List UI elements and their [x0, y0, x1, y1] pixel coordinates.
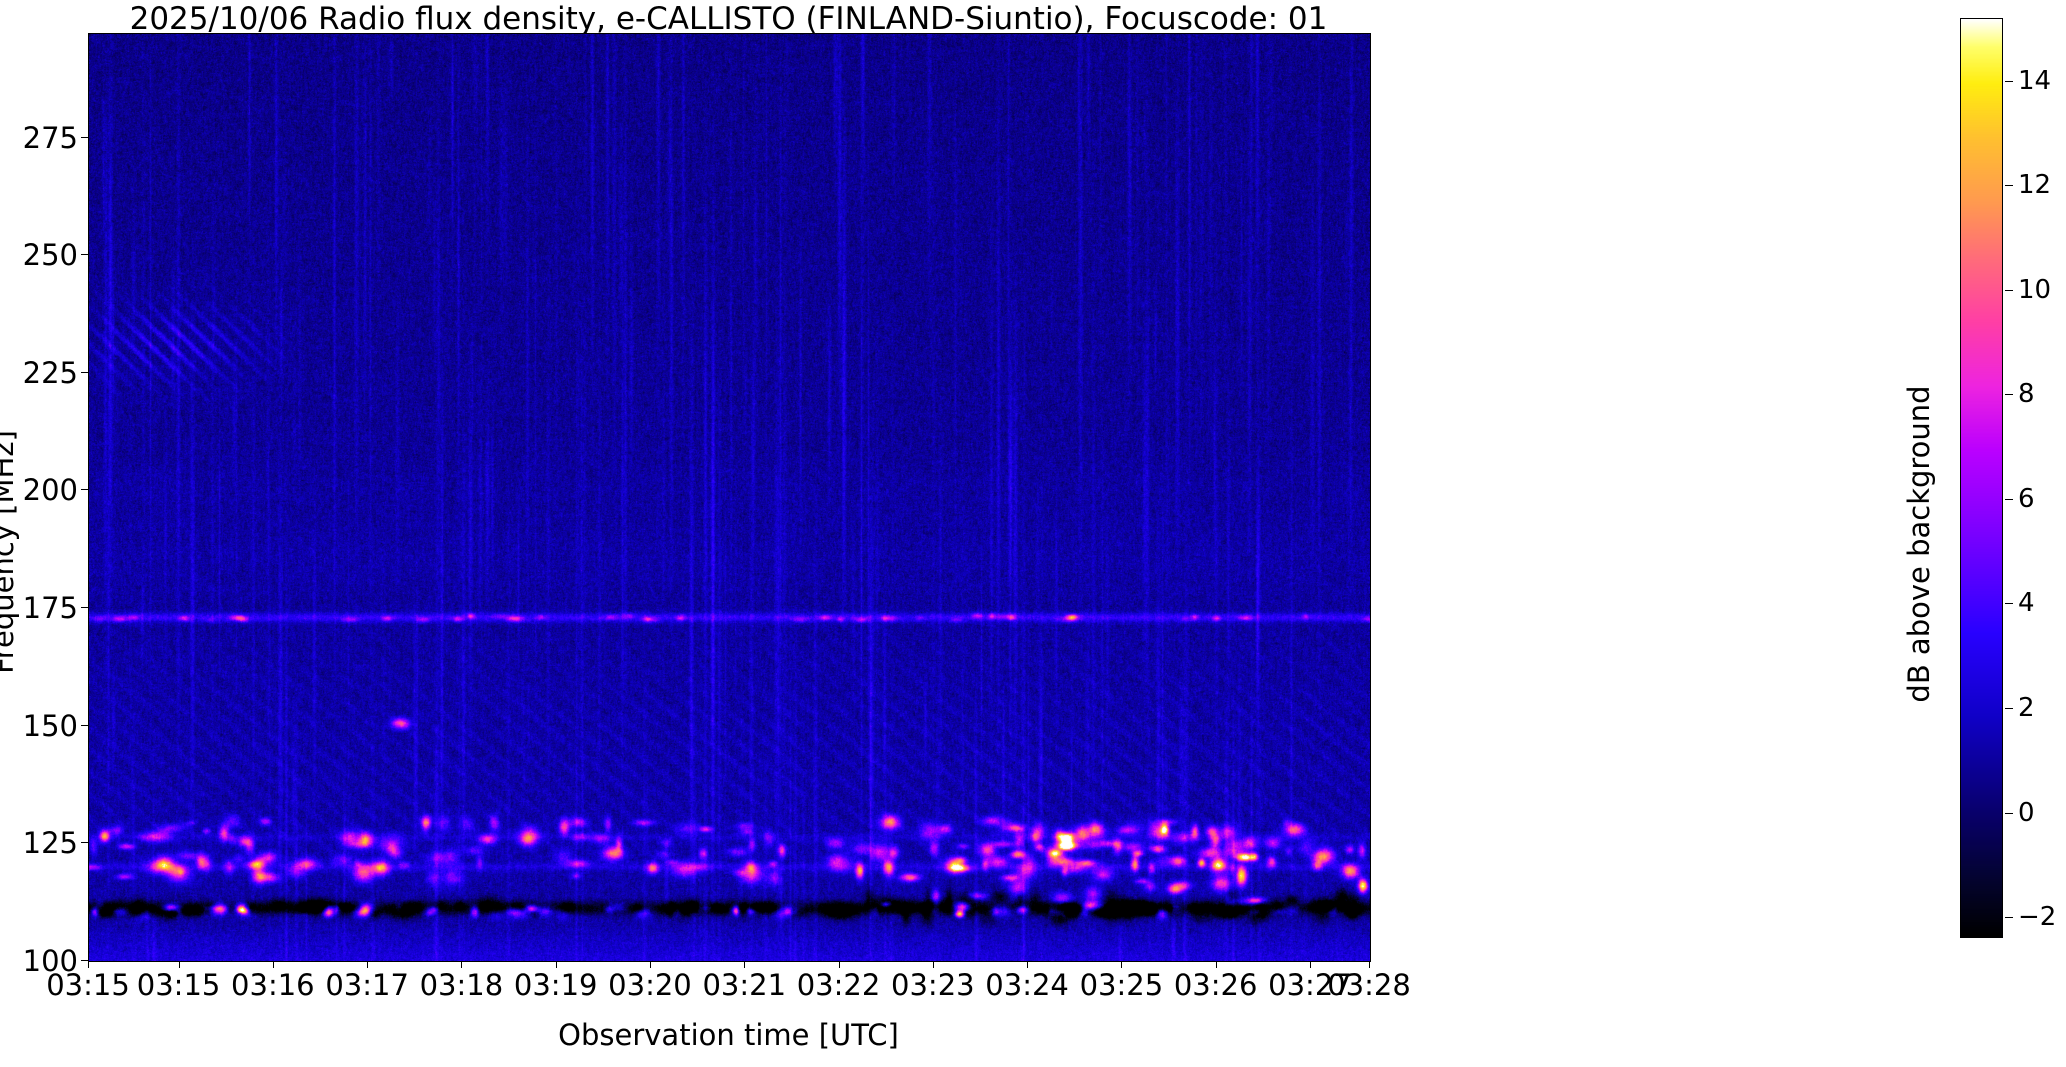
page-title: 2025/10/06 Radio flux density, e-CALLIST… [88, 2, 1369, 36]
y-axis-tick-label: 125 [8, 826, 78, 860]
x-axis-tick-mark [744, 961, 745, 968]
x-axis-tick-label: 03:28 [1289, 968, 1449, 1002]
y-axis-label: Frequency [MHz] [0, 392, 20, 712]
colorbar-tick-label: 10 [2018, 275, 2051, 305]
x-axis-tick-mark [1121, 961, 1122, 968]
x-axis-tick-mark [367, 961, 368, 968]
colorbar-tick-label: 2 [2018, 693, 2035, 723]
y-axis-tick-label: 150 [8, 709, 78, 743]
colorbar-tick-label: 4 [2018, 588, 2035, 618]
colorbar-tick-label: 14 [2018, 66, 2051, 96]
colorbar-tick-label: 0 [2018, 798, 2035, 828]
x-axis-tick-mark [1027, 961, 1028, 968]
x-axis-tick-labels: 03:1503:1503:1603:1703:1803:1903:2003:21… [88, 968, 1369, 1008]
y-axis-tick-mark [81, 137, 88, 138]
colorbar-tick-mark [2005, 290, 2013, 291]
colorbar-tick-label: 12 [2018, 170, 2051, 200]
x-axis-tick-mark [1310, 961, 1311, 968]
y-axis-tick-mark [81, 607, 88, 608]
x-axis-tick-mark [461, 961, 462, 968]
y-axis-tick-marks [88, 33, 96, 960]
colorbar-tick-mark [2005, 603, 2013, 604]
y-axis-tick-label: 275 [8, 121, 78, 155]
y-axis-tick-label: 225 [8, 356, 78, 390]
colorbar-tick-mark [2005, 499, 2013, 500]
x-axis-tick-mark [1369, 961, 1370, 968]
x-axis-tick-mark [556, 961, 557, 968]
x-axis-tick-mark [933, 961, 934, 968]
x-axis-tick-mark [1216, 961, 1217, 968]
x-axis-tick-mark [839, 961, 840, 968]
colorbar-tick-mark [2005, 708, 2013, 709]
colorbar-tick-mark [2005, 813, 2013, 814]
y-axis-tick-mark [81, 372, 88, 373]
colorbar-tick-label: 8 [2018, 379, 2035, 409]
y-axis-tick-mark [81, 960, 88, 961]
colorbar-tick-mark [2005, 394, 2013, 395]
colorbar-tick-label: 6 [2018, 484, 2035, 514]
colorbar-tick-mark [2005, 81, 2013, 82]
x-axis-tick-mark [273, 961, 274, 968]
x-axis-tick-mark [650, 961, 651, 968]
spectrogram-axes [88, 33, 1371, 962]
spectrogram-heatmap [89, 34, 1370, 961]
y-axis-tick-label: 250 [8, 238, 78, 272]
colorbar-tick-mark [2005, 185, 2013, 186]
x-axis-tick-mark [88, 961, 89, 968]
spectrogram-figure: 2025/10/06 Radio flux density, e-CALLIST… [0, 0, 2066, 1067]
colorbar-tick-label: −2 [2018, 902, 2056, 932]
colorbar-ticks: −202468101214 [1960, 18, 2066, 940]
y-axis-tick-mark [81, 842, 88, 843]
x-axis-tick-mark [179, 961, 180, 968]
y-axis-tick-mark [81, 489, 88, 490]
y-axis-tick-mark [81, 725, 88, 726]
colorbar-tick-mark [2005, 917, 2013, 918]
y-axis-tick-mark [81, 254, 88, 255]
x-axis-label: Observation time [UTC] [88, 1018, 1369, 1052]
colorbar-label: dB above background [1902, 324, 1936, 764]
